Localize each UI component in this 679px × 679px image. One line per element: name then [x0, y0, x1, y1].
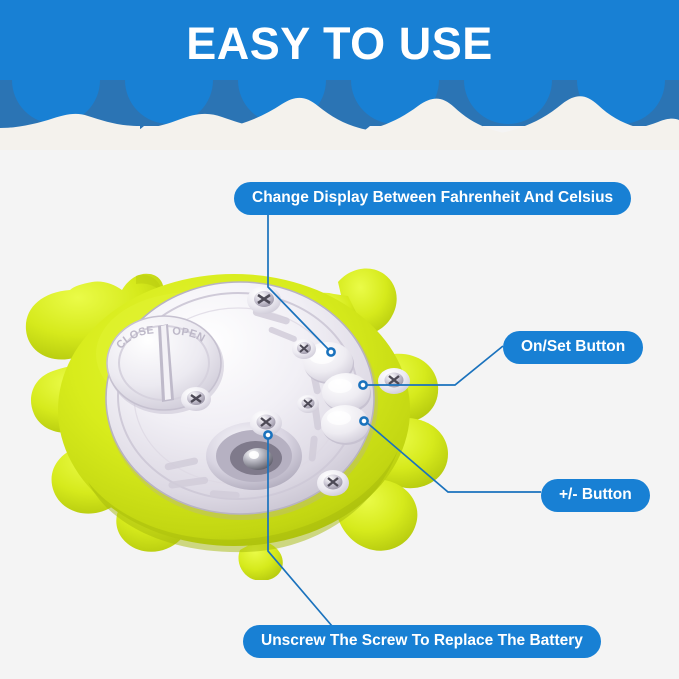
page-title: EASY TO USE — [0, 18, 679, 70]
screw-bottom[interactable] — [317, 470, 349, 496]
callout-label-plusminus[interactable]: +/- Button — [541, 479, 650, 512]
screw-center-small[interactable] — [292, 339, 316, 359]
callout-label-battery[interactable]: Unscrew The Screw To Replace The Battery — [243, 625, 601, 658]
screw-right[interactable] — [378, 368, 410, 394]
product-image-crab-thermometer: OPEN CLOSE — [18, 250, 478, 580]
product-stage: OPEN CLOSE — [0, 150, 679, 679]
screw-bottom-left[interactable] — [250, 410, 282, 436]
sensor-probe — [206, 422, 302, 490]
screw-left[interactable] — [181, 387, 211, 411]
callout-label-display[interactable]: Change Display Between Fahrenheit And Ce… — [234, 182, 631, 215]
header-banner: EASY TO USE — [0, 0, 679, 150]
callout-label-onset[interactable]: On/Set Button — [503, 331, 643, 364]
screw-mid-right[interactable] — [297, 395, 319, 413]
easy-to-use-infographic: EASY TO USE — [0, 0, 679, 679]
screw-top[interactable] — [247, 286, 281, 314]
